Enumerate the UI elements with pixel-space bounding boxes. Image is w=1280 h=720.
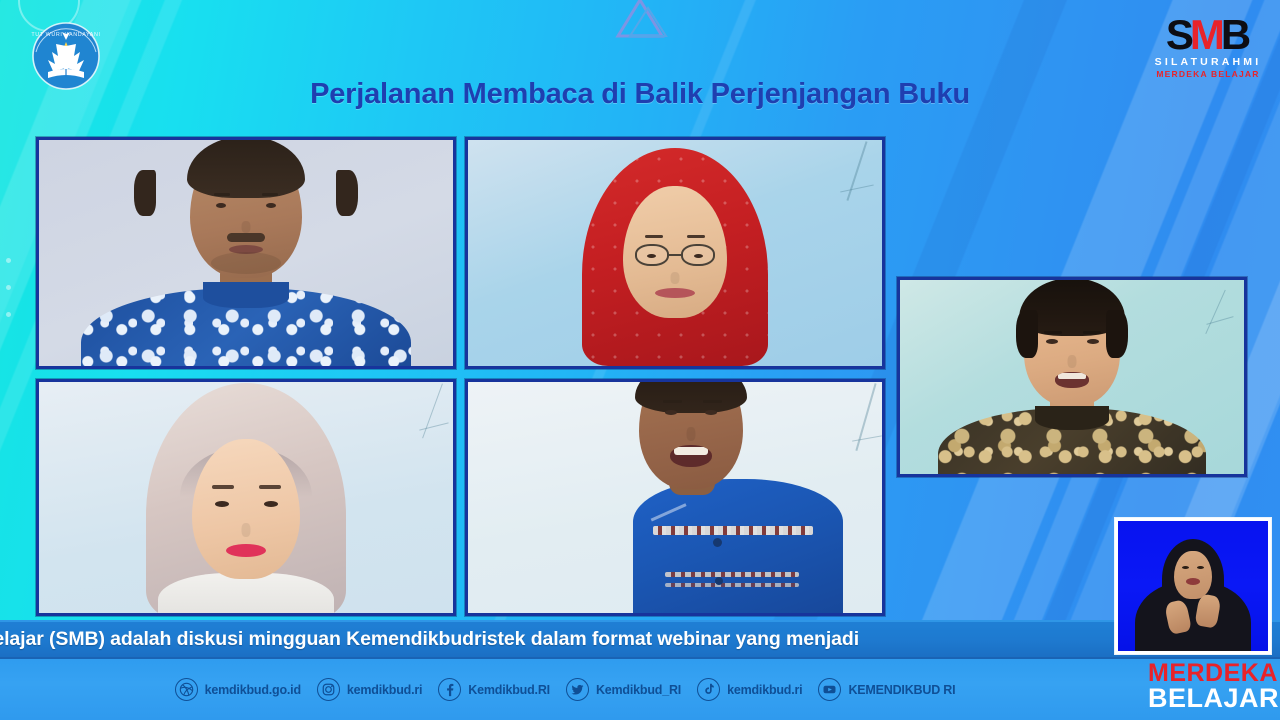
news-ticker: deka Belajar (SMB) adalah diskusi minggu… <box>0 620 1280 659</box>
smb-letter-s: S <box>1166 11 1193 58</box>
social-twitter[interactable]: Kemdikbud_RI <box>566 678 681 701</box>
tiktok-icon <box>697 678 720 701</box>
video-feed <box>39 382 453 613</box>
twitter-icon <box>566 678 589 701</box>
merdeka-badge-line-1: MERDEKA <box>1148 662 1274 686</box>
smb-subtitle-silaturahmi: SILATURAHMI <box>1148 57 1268 68</box>
sign-language-interpreter-window[interactable] <box>1115 518 1271 654</box>
social-handle: KEMENDIKBUD RI <box>848 683 955 697</box>
social-instagram[interactable]: kemdikbud.ri <box>317 678 422 701</box>
sign-language-feed <box>1118 521 1268 651</box>
social-handle: Kemdikbud.RI <box>468 683 550 697</box>
video-feed <box>468 382 882 613</box>
decor-dots <box>6 258 20 339</box>
social-handle: kemdikbud.ri <box>347 683 422 697</box>
instagram-icon <box>317 678 340 701</box>
page-title: Perjalanan Membaca di Balik Perjenjangan… <box>0 78 1280 111</box>
smb-letter-m: M <box>1190 11 1224 58</box>
youtube-icon <box>818 678 841 701</box>
website-icon <box>175 678 198 701</box>
social-handle: kemdikbud.go.id <box>205 683 301 697</box>
video-feed <box>900 280 1244 474</box>
smb-letter-b: B <box>1221 11 1250 58</box>
video-feed <box>39 140 453 366</box>
participant-tile-4[interactable] <box>465 379 885 616</box>
social-handle: kemdikbud.ri <box>727 683 802 697</box>
social-facebook[interactable]: Kemdikbud.RI <box>438 678 550 701</box>
video-feed <box>468 140 882 366</box>
ticker-text: deka Belajar (SMB) adalah diskusi minggu… <box>0 628 859 651</box>
social-handle: Kemdikbud_RI <box>596 683 681 697</box>
social-youtube[interactable]: KEMENDIKBUD RI <box>818 678 955 701</box>
merdeka-belajar-badge: MERDEKA BELAJAR <box>1148 662 1274 711</box>
social-website[interactable]: kemdikbud.go.id <box>175 678 301 701</box>
participant-tile-5[interactable] <box>897 277 1247 477</box>
decor-accent-icon <box>600 0 670 38</box>
social-footer: kemdikbud.go.id kemdikbud.ri Kemdikbud.R… <box>0 659 1280 720</box>
smb-acronym: SMB <box>1148 14 1268 56</box>
smb-subtitle-merdeka-belajar: MERDEKA BELAJAR <box>1148 70 1268 79</box>
participant-tile-2[interactable] <box>465 137 885 369</box>
broadcast-stage: TUT WURI HANDAYANI SMB SILATURAHMI MERDE… <box>0 0 1280 720</box>
smb-logo: SMB SILATURAHMI MERDEKA BELAJAR <box>1148 14 1268 78</box>
participant-tile-1[interactable] <box>36 137 456 369</box>
participant-tile-3[interactable] <box>36 379 456 616</box>
merdeka-badge-line-2: BELAJAR <box>1148 686 1274 711</box>
social-tiktok[interactable]: kemdikbud.ri <box>697 678 802 701</box>
facebook-icon <box>438 678 461 701</box>
